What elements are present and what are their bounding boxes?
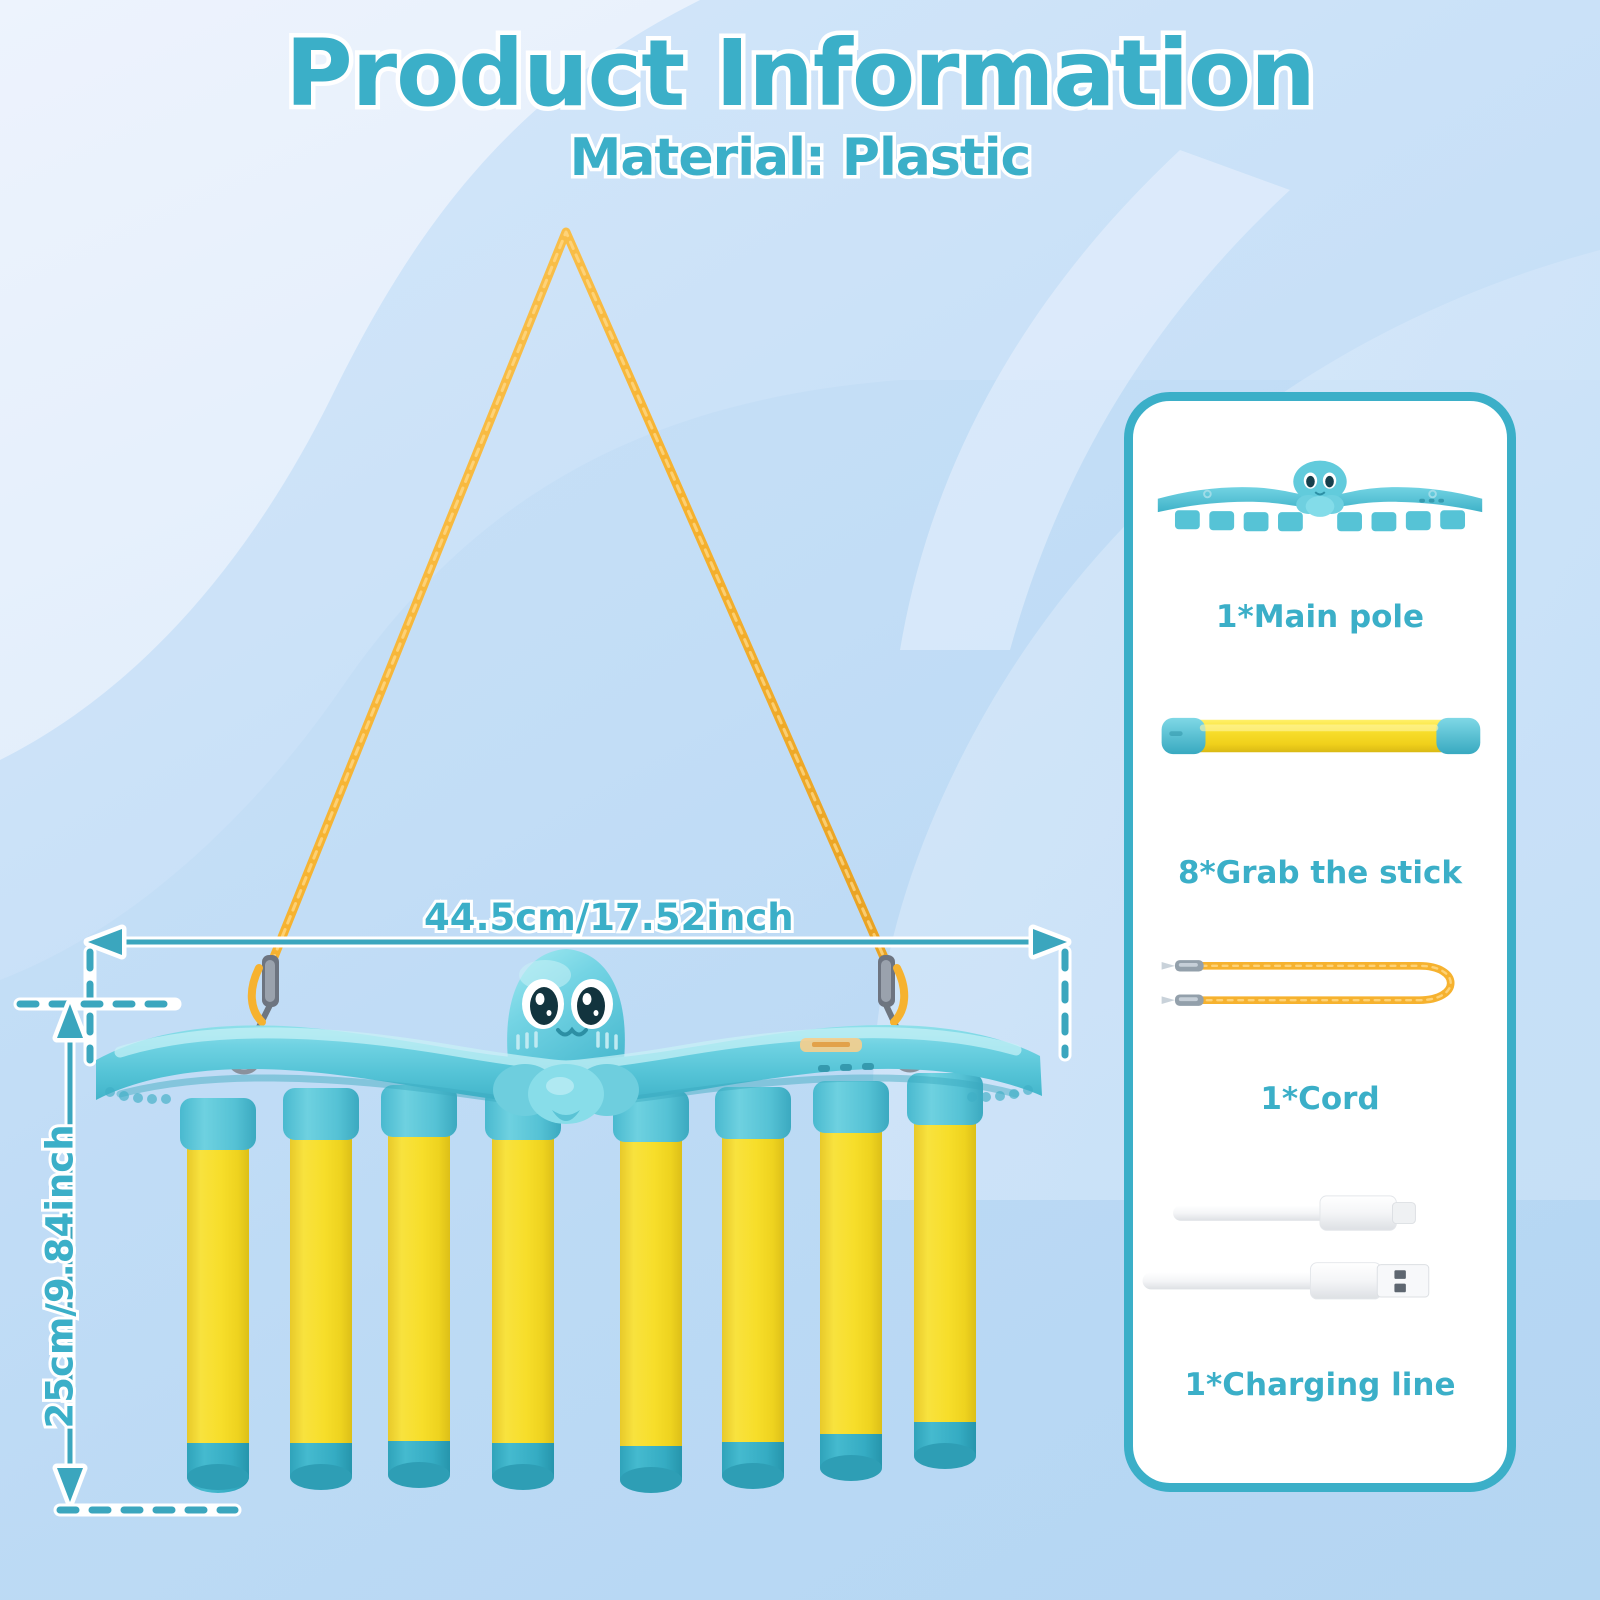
hanging-cord — [272, 232, 886, 962]
grab-stick — [485, 1088, 561, 1490]
main-pole-art — [1133, 439, 1507, 549]
page-subtitle: Material: Plastic — [570, 128, 1031, 188]
charging-line-art — [1133, 1181, 1507, 1331]
switch-label — [800, 1038, 862, 1052]
grab-sticks-group — [180, 1073, 983, 1493]
grab-stick — [180, 1098, 256, 1493]
parts-list-panel: 1*Main pole 8*Grab the stick — [1124, 392, 1516, 1492]
grab-stick — [715, 1087, 791, 1489]
usb-a-connector — [1143, 1263, 1429, 1299]
cord-art — [1133, 943, 1507, 1023]
part-label-grab-stick: 8*Grab the stick — [1133, 855, 1507, 891]
grab-stick-art — [1133, 691, 1507, 781]
part-label-charging-line: 1*Charging line — [1133, 1367, 1507, 1403]
height-dimension-label: 25cm/9.84inch — [39, 1117, 82, 1437]
width-dimension-label: 44.5cm/17.52inch — [424, 896, 794, 939]
grab-stick — [381, 1085, 457, 1488]
cord-tip — [1162, 960, 1204, 971]
usb-c-connector — [1173, 1196, 1415, 1230]
grab-stick — [613, 1090, 689, 1493]
grab-stick — [283, 1088, 359, 1490]
grab-stick — [813, 1081, 889, 1481]
page-title: Product Information — [285, 22, 1314, 126]
grab-stick — [907, 1073, 983, 1469]
octopus-head — [507, 949, 625, 1070]
cord-tip — [1162, 994, 1204, 1005]
page-subtitle-row: Material: Plastic — [0, 128, 1600, 188]
page-title-row: Product Information — [0, 22, 1600, 126]
part-label-main-pole: 1*Main pole — [1133, 599, 1507, 635]
product-illustration — [0, 0, 1140, 1600]
part-label-cord: 1*Cord — [1133, 1081, 1507, 1117]
